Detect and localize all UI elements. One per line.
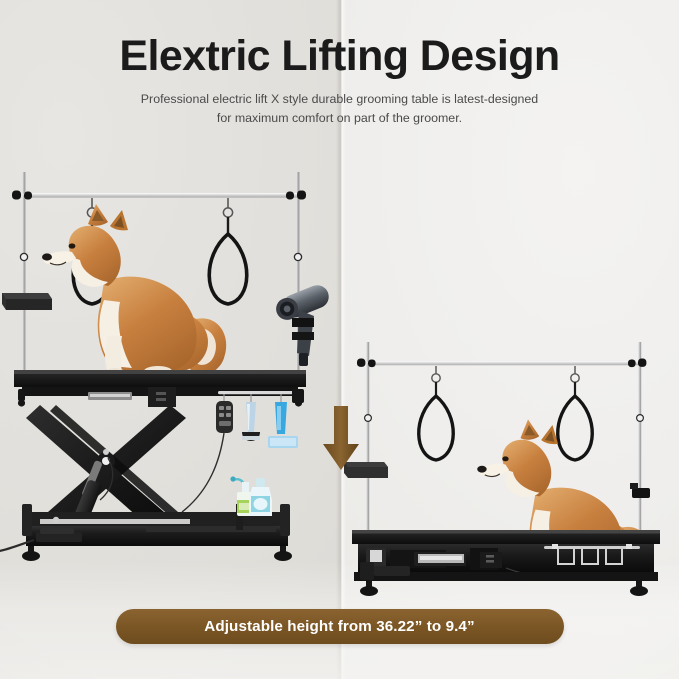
shampoo-bottle [249,478,272,516]
page-subtitle: Professional electric lift X style durab… [105,90,575,128]
remote-control [182,394,233,512]
grooming-arm-crossbar [367,361,641,365]
deshedding-tool [242,394,260,441]
table-clamp-left [18,389,25,407]
accessory-tray [2,293,52,310]
height-range-banner: Adjustable height from 36.22” to 9.4” [116,609,564,644]
illustration-table-raised [0,160,342,610]
lowering-arrow [318,404,364,474]
arrow-down-icon [323,406,359,470]
leveling-foot-left [22,546,40,561]
hair-dryer [273,282,333,366]
leveling-foot-right [274,546,292,561]
grooming-arm-crossbar [23,193,300,198]
post-slider-left [365,415,372,422]
height-range-label: Adjustable height from 36.22” to 9.4” [204,618,474,635]
post-slider-left [20,253,27,260]
subtitle-line-2: for maximum comfort on part of the groom… [217,111,462,125]
control-box [148,387,176,407]
noose-loop-right [558,366,593,460]
leveling-foot-left [360,581,378,596]
noose-loop-right [209,198,247,304]
grooming-arm-post-left [366,342,369,532]
scissor-lift-x-frame [26,405,186,526]
post-slider-right [294,253,301,260]
shiba-inu-dog [42,204,226,376]
page-title: Elextric Lifting Design [0,0,679,80]
tabletop [352,530,660,544]
grooming-arm-post-right [296,172,299,387]
grooming-arm-post-left [22,172,25,387]
product-feature-image: Elextric Lifting Design Professional ele… [0,0,679,679]
leveling-foot-right [630,581,648,596]
header-block: Elextric Lifting Design Professional ele… [0,0,679,128]
illustration-table-lowered [330,330,679,610]
dryer-mount-bracket [292,318,314,327]
dryer-mount-bracket-2 [292,332,314,340]
subtitle-line-1: Professional electric lift X style durab… [141,92,538,106]
noose-loop-left [419,366,454,460]
post-slider-right [637,415,644,422]
grooming-arm-post-right [638,342,641,532]
